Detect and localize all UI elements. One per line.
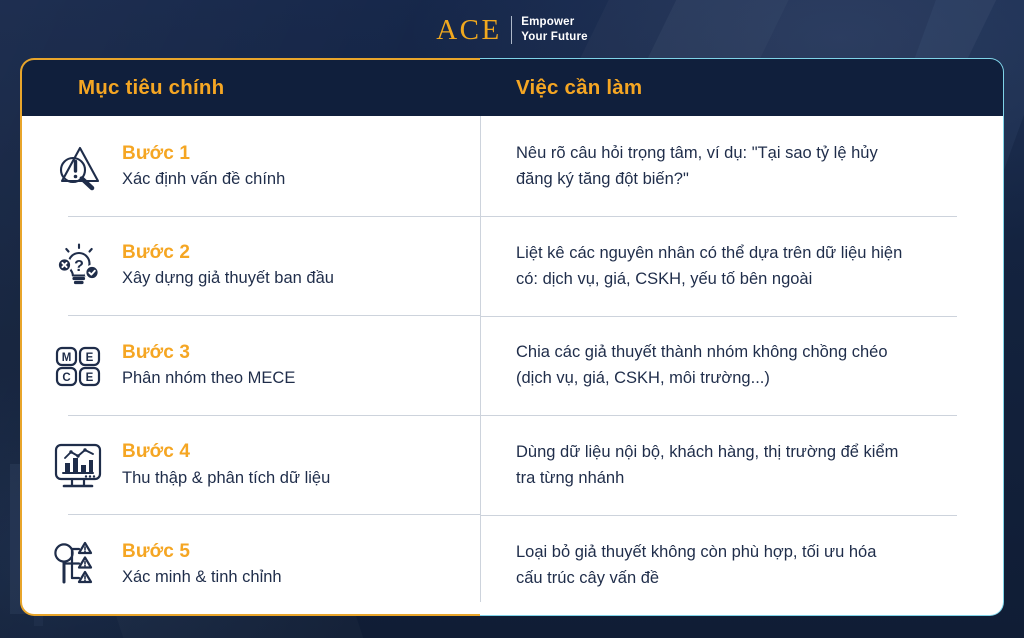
table-body: Bước 1 Xác định vấn đề chính ? — [20, 116, 1004, 616]
task-text: Dùng dữ liệu nội bộ, khách hàng, thị trư… — [480, 439, 960, 491]
step-title: Bước 4 — [122, 440, 330, 464]
logo-tagline-line2: Your Future — [521, 30, 588, 45]
table-row: Chia các giả thuyết thành nhóm không chồ… — [480, 316, 1003, 416]
step-description: Xây dựng giả thuyết ban đầu — [122, 267, 334, 289]
row-labels: Bước 1 Xác định vấn đề chính — [118, 142, 285, 191]
svg-text:M: M — [62, 352, 72, 364]
step-description: Phân nhóm theo MECE — [122, 367, 295, 389]
table-row: M E C E Bước 3 Phân nhóm theo MECE — [22, 315, 480, 415]
logo-tagline: Empower Your Future — [521, 15, 588, 45]
table-row: Loại bỏ giả thuyết không còn phù hợp, tố… — [480, 515, 1003, 615]
task-text: Nêu rõ câu hỏi trọng tâm, ví dụ: "Tại sa… — [480, 140, 960, 192]
step-title: Bước 1 — [122, 142, 285, 166]
table-header-right: Việc cần làm — [480, 58, 1004, 116]
table-row: Bước 5 Xác minh & tinh chỉnh — [22, 514, 480, 614]
step-description: Xác định vấn đề chính — [122, 168, 285, 190]
lightbulb-question-icon: ? — [22, 237, 118, 293]
step-description: Xác minh & tinh chỉnh — [122, 566, 282, 588]
monitor-chart-icon — [22, 437, 118, 493]
brand-logo: ACE Empower Your Future — [0, 13, 1024, 47]
svg-text:E: E — [86, 352, 94, 364]
steps-table-card: Mục tiêu chính Việc cần làm — [20, 58, 1004, 616]
logo-divider — [511, 16, 513, 44]
magnifier-tree-warning-icon — [22, 536, 118, 592]
row-labels: Bước 5 Xác minh & tinh chỉnh — [118, 540, 282, 589]
row-labels: Bước 4 Thu thập & phân tích dữ liệu — [118, 440, 330, 489]
task-text: Chia các giả thuyết thành nhóm không chồ… — [480, 339, 960, 391]
table-row: ? Bước 2 Xây dựng giả thuyết ban đầu — [22, 216, 480, 316]
step-title: Bước 3 — [122, 341, 295, 365]
logo-tagline-line1: Empower — [521, 15, 588, 30]
logo-wordmark: ACE — [436, 16, 502, 45]
column-header-tasks: Việc cần làm — [516, 76, 642, 100]
task-text: Liệt kê các nguyên nhân có thể dựa trên … — [480, 240, 960, 292]
column-divider — [480, 116, 481, 602]
objectives-column: Bước 1 Xác định vấn đề chính ? — [20, 116, 480, 616]
svg-text:?: ? — [74, 258, 84, 275]
magnifier-warning-icon — [22, 138, 118, 194]
row-labels: Bước 3 Phân nhóm theo MECE — [118, 341, 295, 390]
table-row: Liệt kê các nguyên nhân có thể dựa trên … — [480, 216, 1003, 316]
table-header-row: Mục tiêu chính Việc cần làm — [20, 58, 1004, 116]
table-row: Dùng dữ liệu nội bộ, khách hàng, thị trư… — [480, 415, 1003, 515]
table-row: Nêu rõ câu hỏi trọng tâm, ví dụ: "Tại sa… — [480, 116, 1003, 216]
objectives-rows: Bước 1 Xác định vấn đề chính ? — [22, 116, 480, 614]
table-row: Bước 4 Thu thập & phân tích dữ liệu — [22, 415, 480, 515]
table-header-left: Mục tiêu chính — [20, 58, 480, 116]
tasks-column: Nêu rõ câu hỏi trọng tâm, ví dụ: "Tại sa… — [480, 116, 1004, 616]
tasks-rows: Nêu rõ câu hỏi trọng tâm, ví dụ: "Tại sa… — [480, 116, 1003, 615]
svg-text:C: C — [62, 372, 70, 384]
table-row: Bước 1 Xác định vấn đề chính — [22, 116, 480, 216]
row-labels: Bước 2 Xây dựng giả thuyết ban đầu — [118, 241, 334, 290]
task-text: Loại bỏ giả thuyết không còn phù hợp, tố… — [480, 539, 960, 591]
step-title: Bước 2 — [122, 241, 334, 265]
column-header-objectives: Mục tiêu chính — [78, 76, 224, 100]
step-title: Bước 5 — [122, 540, 282, 564]
step-description: Thu thập & phân tích dữ liệu — [122, 467, 330, 489]
svg-text:E: E — [86, 372, 94, 384]
mece-grid-icon: M E C E — [22, 337, 118, 393]
